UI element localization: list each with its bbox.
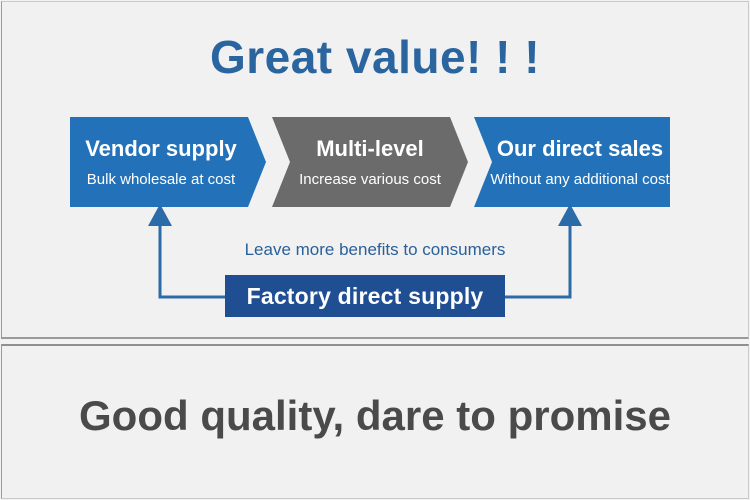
flow-step-vendor-supply: Vendor supply Bulk wholesale at cost [70,117,266,207]
flow-caption: Leave more benefits to consumers [0,239,750,261]
flow-step-title: Vendor supply [85,136,237,162]
flow-step-content: Our direct sales Without any additional … [490,136,669,189]
flow-step-content: Multi-level Increase various cost [299,136,441,189]
process-flow: Vendor supply Bulk wholesale at cost Mul… [70,117,670,207]
slogan-text: Good quality, dare to promise [0,386,750,446]
flow-step-title: Multi-level [299,136,441,162]
flow-step-our-direct-sales: Our direct sales Without any additional … [474,117,670,207]
page-title: Great value! ! ! [0,30,750,84]
flow-step-subtitle: Increase various cost [299,171,441,189]
flow-step-title: Our direct sales [490,136,669,162]
flow-step-multi-level: Multi-level Increase various cost [272,117,468,207]
factory-direct-supply-box: Factory direct supply [225,275,505,317]
flow-step-content: Vendor supply Bulk wholesale at cost [85,136,237,189]
factory-direct-supply-label: Factory direct supply [247,283,484,310]
flow-step-subtitle: Bulk wholesale at cost [85,171,237,189]
flow-step-subtitle: Without any additional cost [490,171,669,189]
